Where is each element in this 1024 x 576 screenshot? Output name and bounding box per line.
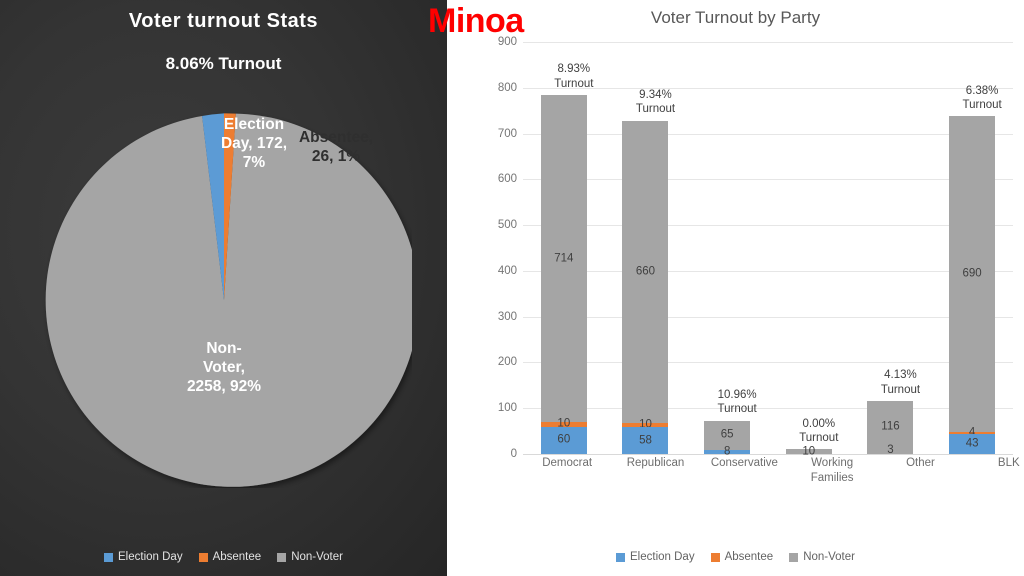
bar-segment-non-voter[interactable]: 714 [541,95,587,422]
bar-stack[interactable]: 71410608.93% Turnout [541,95,587,454]
bar-value-label: 116 [867,422,913,434]
bar-chart-plot-area: 0100200300400500600700800900 71410608.93… [483,42,1013,454]
bar-stack[interactable]: 6904436.38% Turnout [949,116,995,454]
turnout-annotation: 10.96% Turnout [692,388,782,417]
bar-chart-panel: Voter Turnout by Party 01002003004005006… [447,0,1024,576]
bar-value-label: 690 [949,268,995,280]
bar-legend-item[interactable]: Absentee [711,551,774,563]
y-axis-tick-label: 600 [483,173,517,185]
pie-chart-panel: Voter turnout Stats 8.06% Turnout [0,0,447,576]
turnout-annotation: 8.93% Turnout [529,62,619,91]
y-axis-tick-label: 100 [483,402,517,414]
x-axis-label: Democrat [534,456,600,471]
bar-stack[interactable]: 65810.96% Turnout [704,421,750,454]
legend-swatch-icon [789,553,798,562]
bar-column[interactable]: 100.00% Turnout [776,42,842,454]
bar-segment-non-voter[interactable]: 660 [622,121,668,423]
bar-segment-non-voter[interactable]: 10 [786,449,832,454]
pie-legend-item[interactable]: Absentee [199,551,262,563]
legend-label: Absentee [213,551,262,563]
bar-legend-item[interactable]: Non-Voter [789,551,855,563]
legend-swatch-icon [104,553,113,562]
x-axis-label: Working Families [799,456,865,486]
bar-chart-legend: Election DayAbsenteeNon-Voter [447,551,1024,563]
pie-chart-title: Voter turnout Stats [0,10,447,33]
bar-segment-non-voter[interactable]: 690 [949,116,995,432]
bar-column[interactable]: 11634.13% Turnout [857,42,923,454]
turnout-annotation: 0.00% Turnout [774,417,864,446]
bar-value-label-extra: 3 [867,445,913,457]
x-axis-labels: DemocratRepublicanConservativeWorking Fa… [523,456,1024,506]
legend-swatch-icon [616,553,625,562]
pie-legend-item[interactable]: Election Day [104,551,183,563]
turnout-annotation: 4.13% Turnout [855,368,945,397]
bar-column[interactable]: 66010589.34% Turnout [612,42,678,454]
bar-segment-election-day[interactable]: 58 [622,427,668,454]
x-axis-label: Other [887,456,953,471]
bar-segment-election-day[interactable]: 43 [949,434,995,454]
y-axis-tick-label: 400 [483,265,517,277]
y-axis-tick-label: 500 [483,219,517,231]
bar-value-label: 714 [541,253,587,265]
gridline [523,454,1013,455]
bar-stack[interactable]: 11634.13% Turnout [867,401,913,454]
bar-value-label: 660 [622,266,668,278]
legend-swatch-icon [199,553,208,562]
bars-group: 71410608.93% Turnout66010589.34% Turnout… [523,42,1013,454]
pie-chart-legend: Election DayAbsenteeNon-Voter [0,551,447,563]
bar-value-label: 60 [541,435,587,447]
pie-label-non-voter: Non- Voter, 2258, 92% [164,340,284,397]
pie-label-absentee: Absentee, 26, 1% [284,129,388,167]
legend-swatch-icon [711,553,720,562]
bar-value-label: 43 [949,438,995,450]
bar-chart-title: Voter Turnout by Party [447,8,1024,28]
bar-segment-election-day[interactable]: 8 [704,450,750,454]
pie-legend-item[interactable]: Non-Voter [277,551,343,563]
bar-column[interactable]: 65810.96% Turnout [694,42,760,454]
overlay-title-minoa: Minoa [428,2,524,41]
y-axis-tick-label: 300 [483,311,517,323]
legend-label: Non-Voter [803,551,855,563]
bar-value-label: 58 [622,435,668,447]
bar-column[interactable]: 71410608.93% Turnout [531,42,597,454]
legend-label: Election Day [630,551,695,563]
legend-label: Non-Voter [291,551,343,563]
bar-stack[interactable]: 100.00% Turnout [786,449,832,454]
x-axis-label: Republican [622,456,688,471]
x-axis-label: Conservative [711,456,777,471]
bar-segment-election-day[interactable]: 60 [541,427,587,454]
y-axis-tick-label: 800 [483,82,517,94]
bar-stack[interactable]: 66010589.34% Turnout [622,121,668,454]
bar-value-label: 65 [704,430,750,442]
y-axis-tick-label: 700 [483,128,517,140]
legend-label: Absentee [725,551,774,563]
pie-chart-graphic: Election Day, 172, 7% Absentee, 26, 1% N… [36,112,412,488]
y-axis-tick-label: 200 [483,356,517,368]
y-axis-tick-label: 0 [483,448,517,460]
legend-label: Election Day [118,551,183,563]
bar-legend-item[interactable]: Election Day [616,551,695,563]
turnout-annotation: 6.38% Turnout [937,84,1024,113]
bar-column[interactable]: 6904436.38% Turnout [939,42,1005,454]
x-axis-label: BLK [976,456,1024,471]
slide-root: Voter turnout Stats 8.06% Turnout [0,0,1024,576]
turnout-annotation: 9.34% Turnout [610,88,700,117]
legend-swatch-icon [277,553,286,562]
pie-chart-subtitle: 8.06% Turnout [0,54,447,74]
